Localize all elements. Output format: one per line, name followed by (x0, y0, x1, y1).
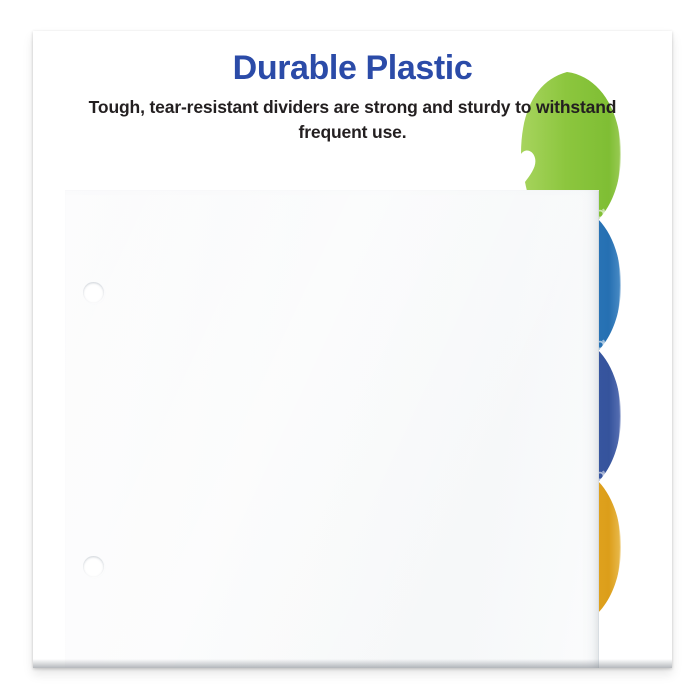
marketing-text-block: Durable Plastic Tough, tear-resistant di… (33, 31, 672, 145)
page-subtitle: Tough, tear-resistant dividers are stron… (33, 95, 672, 145)
page-title: Durable Plastic (33, 49, 672, 87)
sheet-sheen (66, 191, 599, 668)
punch-hole-top (84, 283, 105, 304)
sheet-right-edge (593, 191, 599, 668)
punch-hole-bottom (84, 557, 105, 578)
card-bottom-shadow (33, 659, 672, 668)
product-image-card: Durable Plastic Tough, tear-resistant di… (33, 31, 672, 668)
plastic-divider-sheet (65, 190, 599, 668)
